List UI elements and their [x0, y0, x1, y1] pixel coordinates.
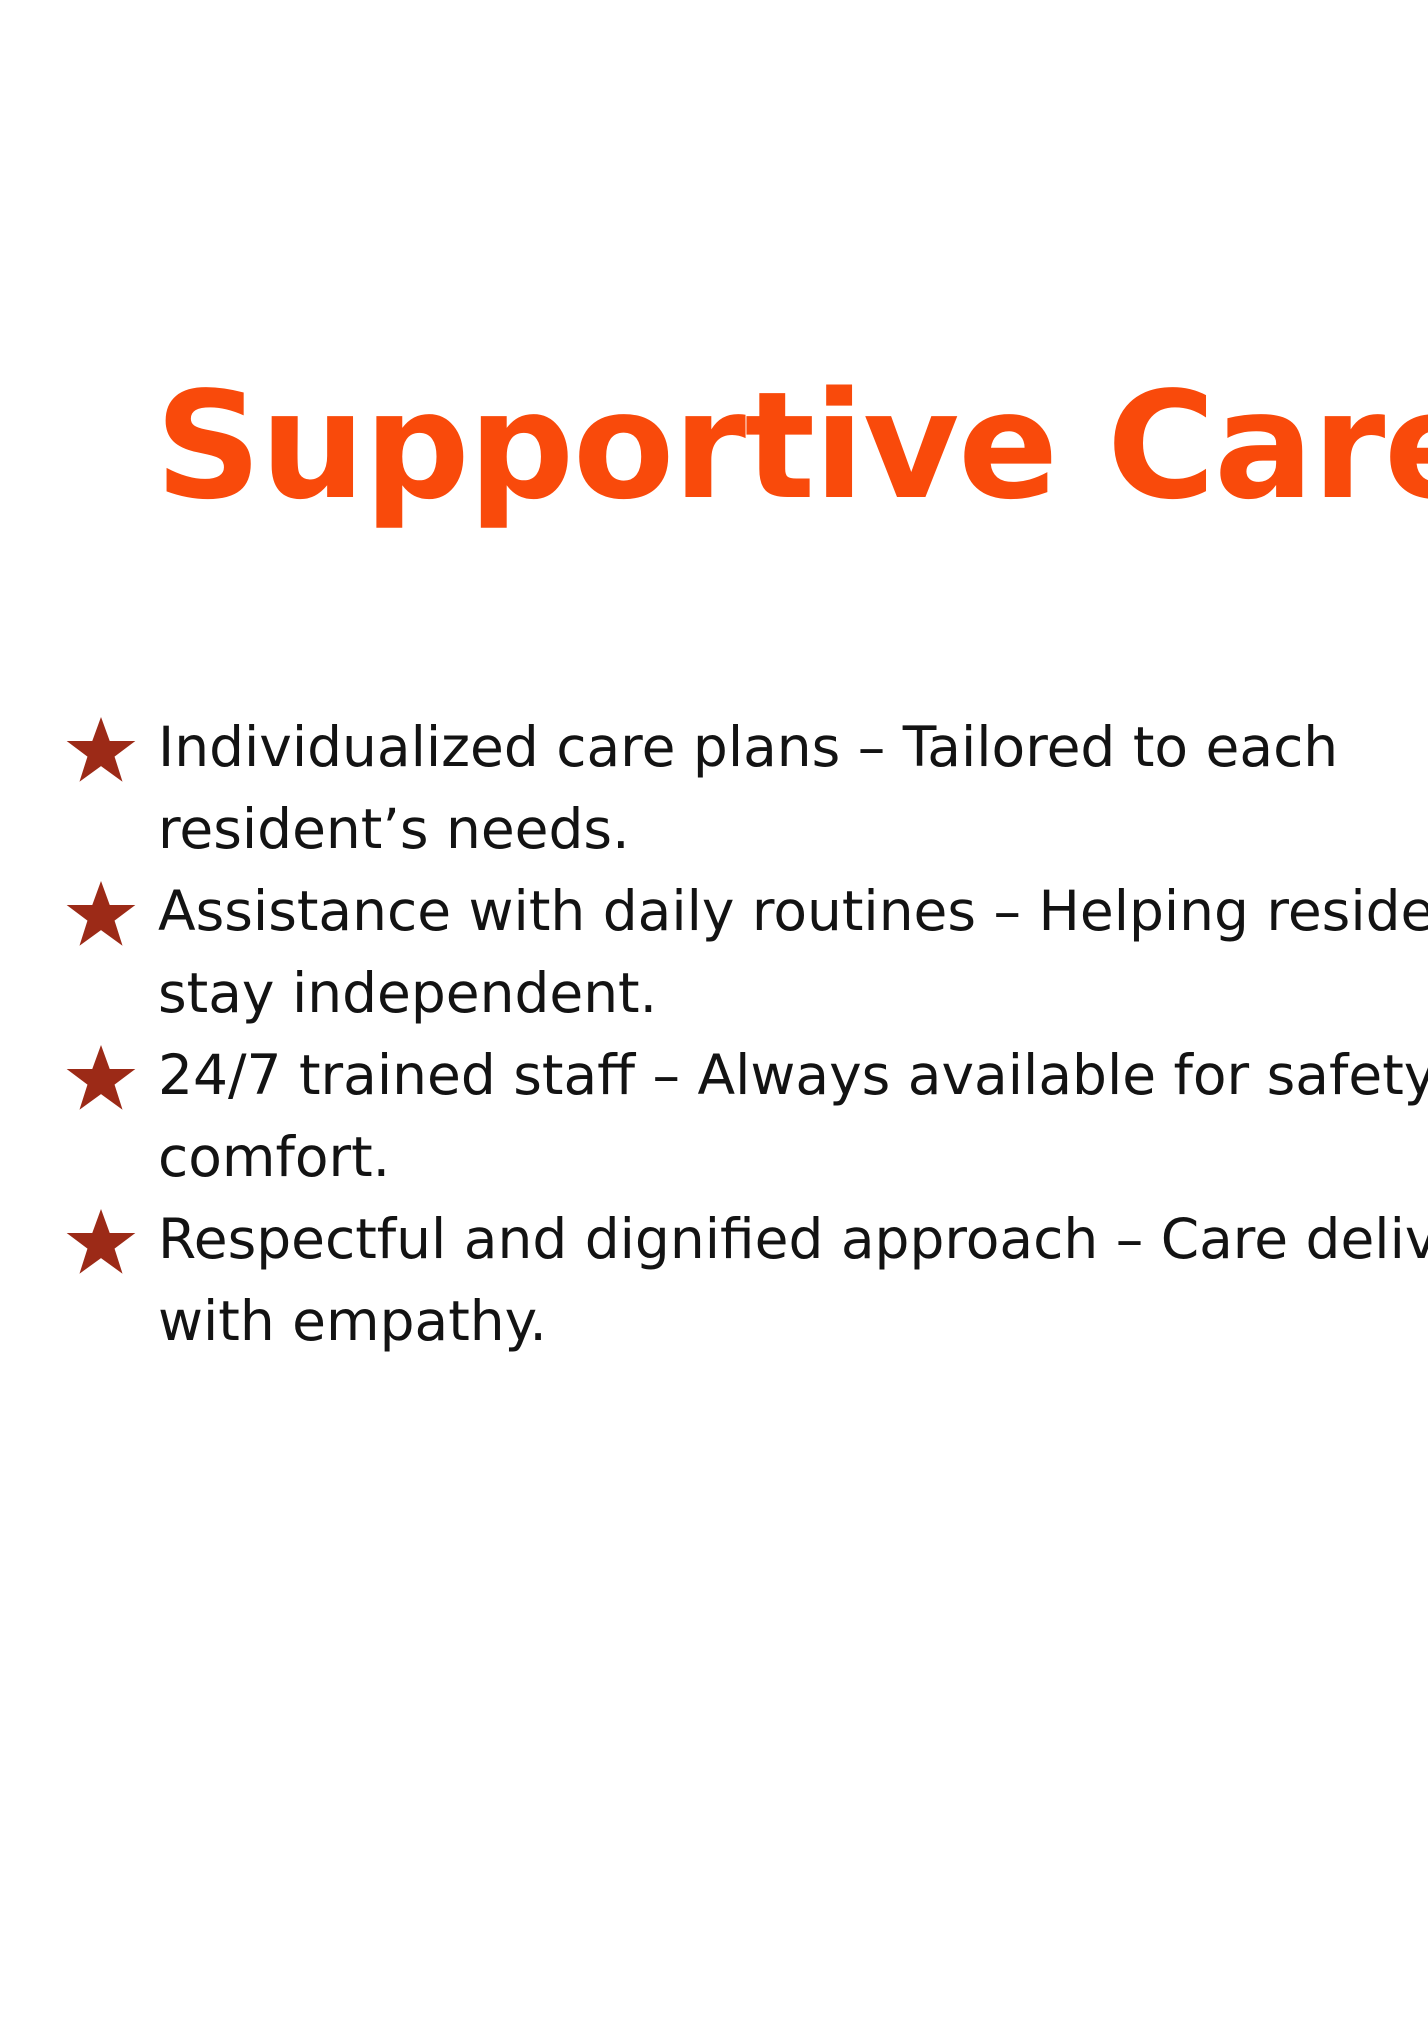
list-item-text: Individualized care plans – Tailored to …	[158, 706, 1428, 870]
star-icon	[64, 1206, 138, 1280]
list-item: Respectful and dignified approach – Care…	[58, 1198, 1428, 1362]
list-item-text: Assistance with daily routines – Helping…	[158, 870, 1428, 1034]
feature-bullet-list: Individualized care plans – Tailored to …	[58, 706, 1428, 1362]
page-title: Supportive Care	[155, 372, 1428, 520]
list-item-text: Respectful and dignified approach – Care…	[158, 1198, 1428, 1362]
list-item: Individualized care plans – Tailored to …	[58, 706, 1428, 870]
star-icon	[64, 878, 138, 952]
list-item: 24/7 trained staff – Always available fo…	[58, 1034, 1428, 1198]
list-item-text: 24/7 trained staff – Always available fo…	[158, 1034, 1428, 1198]
list-item: Assistance with daily routines – Helping…	[58, 870, 1428, 1034]
star-icon	[64, 1042, 138, 1116]
star-icon	[64, 714, 138, 788]
slide-canvas: Supportive Care Individualized care plan…	[0, 0, 1428, 2018]
